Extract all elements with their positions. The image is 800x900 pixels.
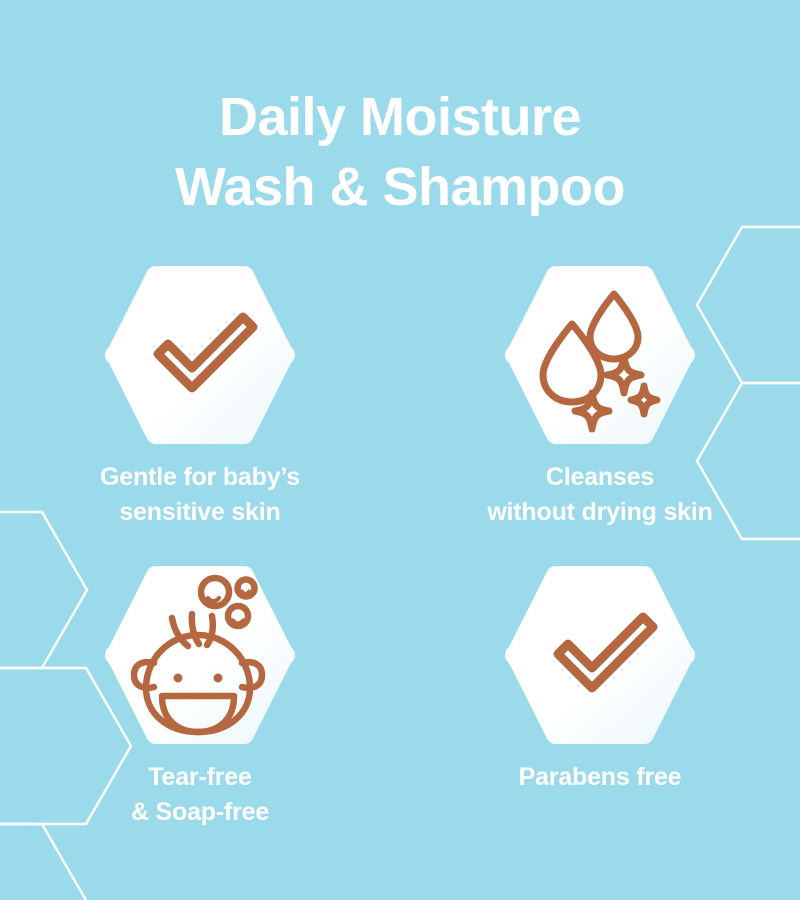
feature-label-line-2: sensitive skin: [100, 495, 300, 530]
feature-label: Gentle for baby’s sensitive skin: [100, 460, 300, 530]
feature-icon-badge: [104, 562, 296, 748]
feature-icon-badge: [504, 262, 696, 448]
feature-icon-badge: [504, 562, 696, 748]
feature-label-line-1: Tear-free: [148, 763, 251, 791]
feature-label-line-1: Cleanses: [546, 463, 654, 491]
feature-label: Tear-free & Soap-free: [131, 760, 269, 830]
feature-item-tear-free: Tear-free & Soap-free: [0, 562, 400, 862]
page-title: Daily Moisture Wash & Shampoo: [0, 82, 800, 222]
feature-item-parabens-free: Parabens free: [400, 562, 800, 862]
feature-label-line-1: Gentle for baby’s: [100, 463, 300, 491]
baby-face-bubbles-icon: [104, 562, 296, 748]
feature-item-gentle: Gentle for baby’s sensitive skin: [0, 262, 400, 562]
water-drops-sparkle-icon: [504, 262, 696, 448]
feature-icon-badge: [104, 262, 296, 448]
title-line-1: Daily Moisture: [0, 82, 800, 152]
checkmark-icon: [504, 562, 696, 748]
feature-label: Parabens free: [519, 760, 682, 795]
feature-label-line-2: & Soap-free: [131, 795, 269, 830]
checkmark-icon: [104, 262, 296, 448]
title-line-2: Wash & Shampoo: [0, 152, 800, 222]
promo-graphic: Daily Moisture Wash & Shampoo: [0, 0, 800, 900]
feature-label-line-2: without drying skin: [487, 495, 712, 530]
feature-label: Cleanses without drying skin: [487, 460, 712, 530]
feature-item-cleanses: Cleanses without drying skin: [400, 262, 800, 562]
feature-label-line-1: Parabens free: [519, 763, 682, 791]
feature-grid: Gentle for baby’s sensitive skin: [0, 262, 800, 862]
